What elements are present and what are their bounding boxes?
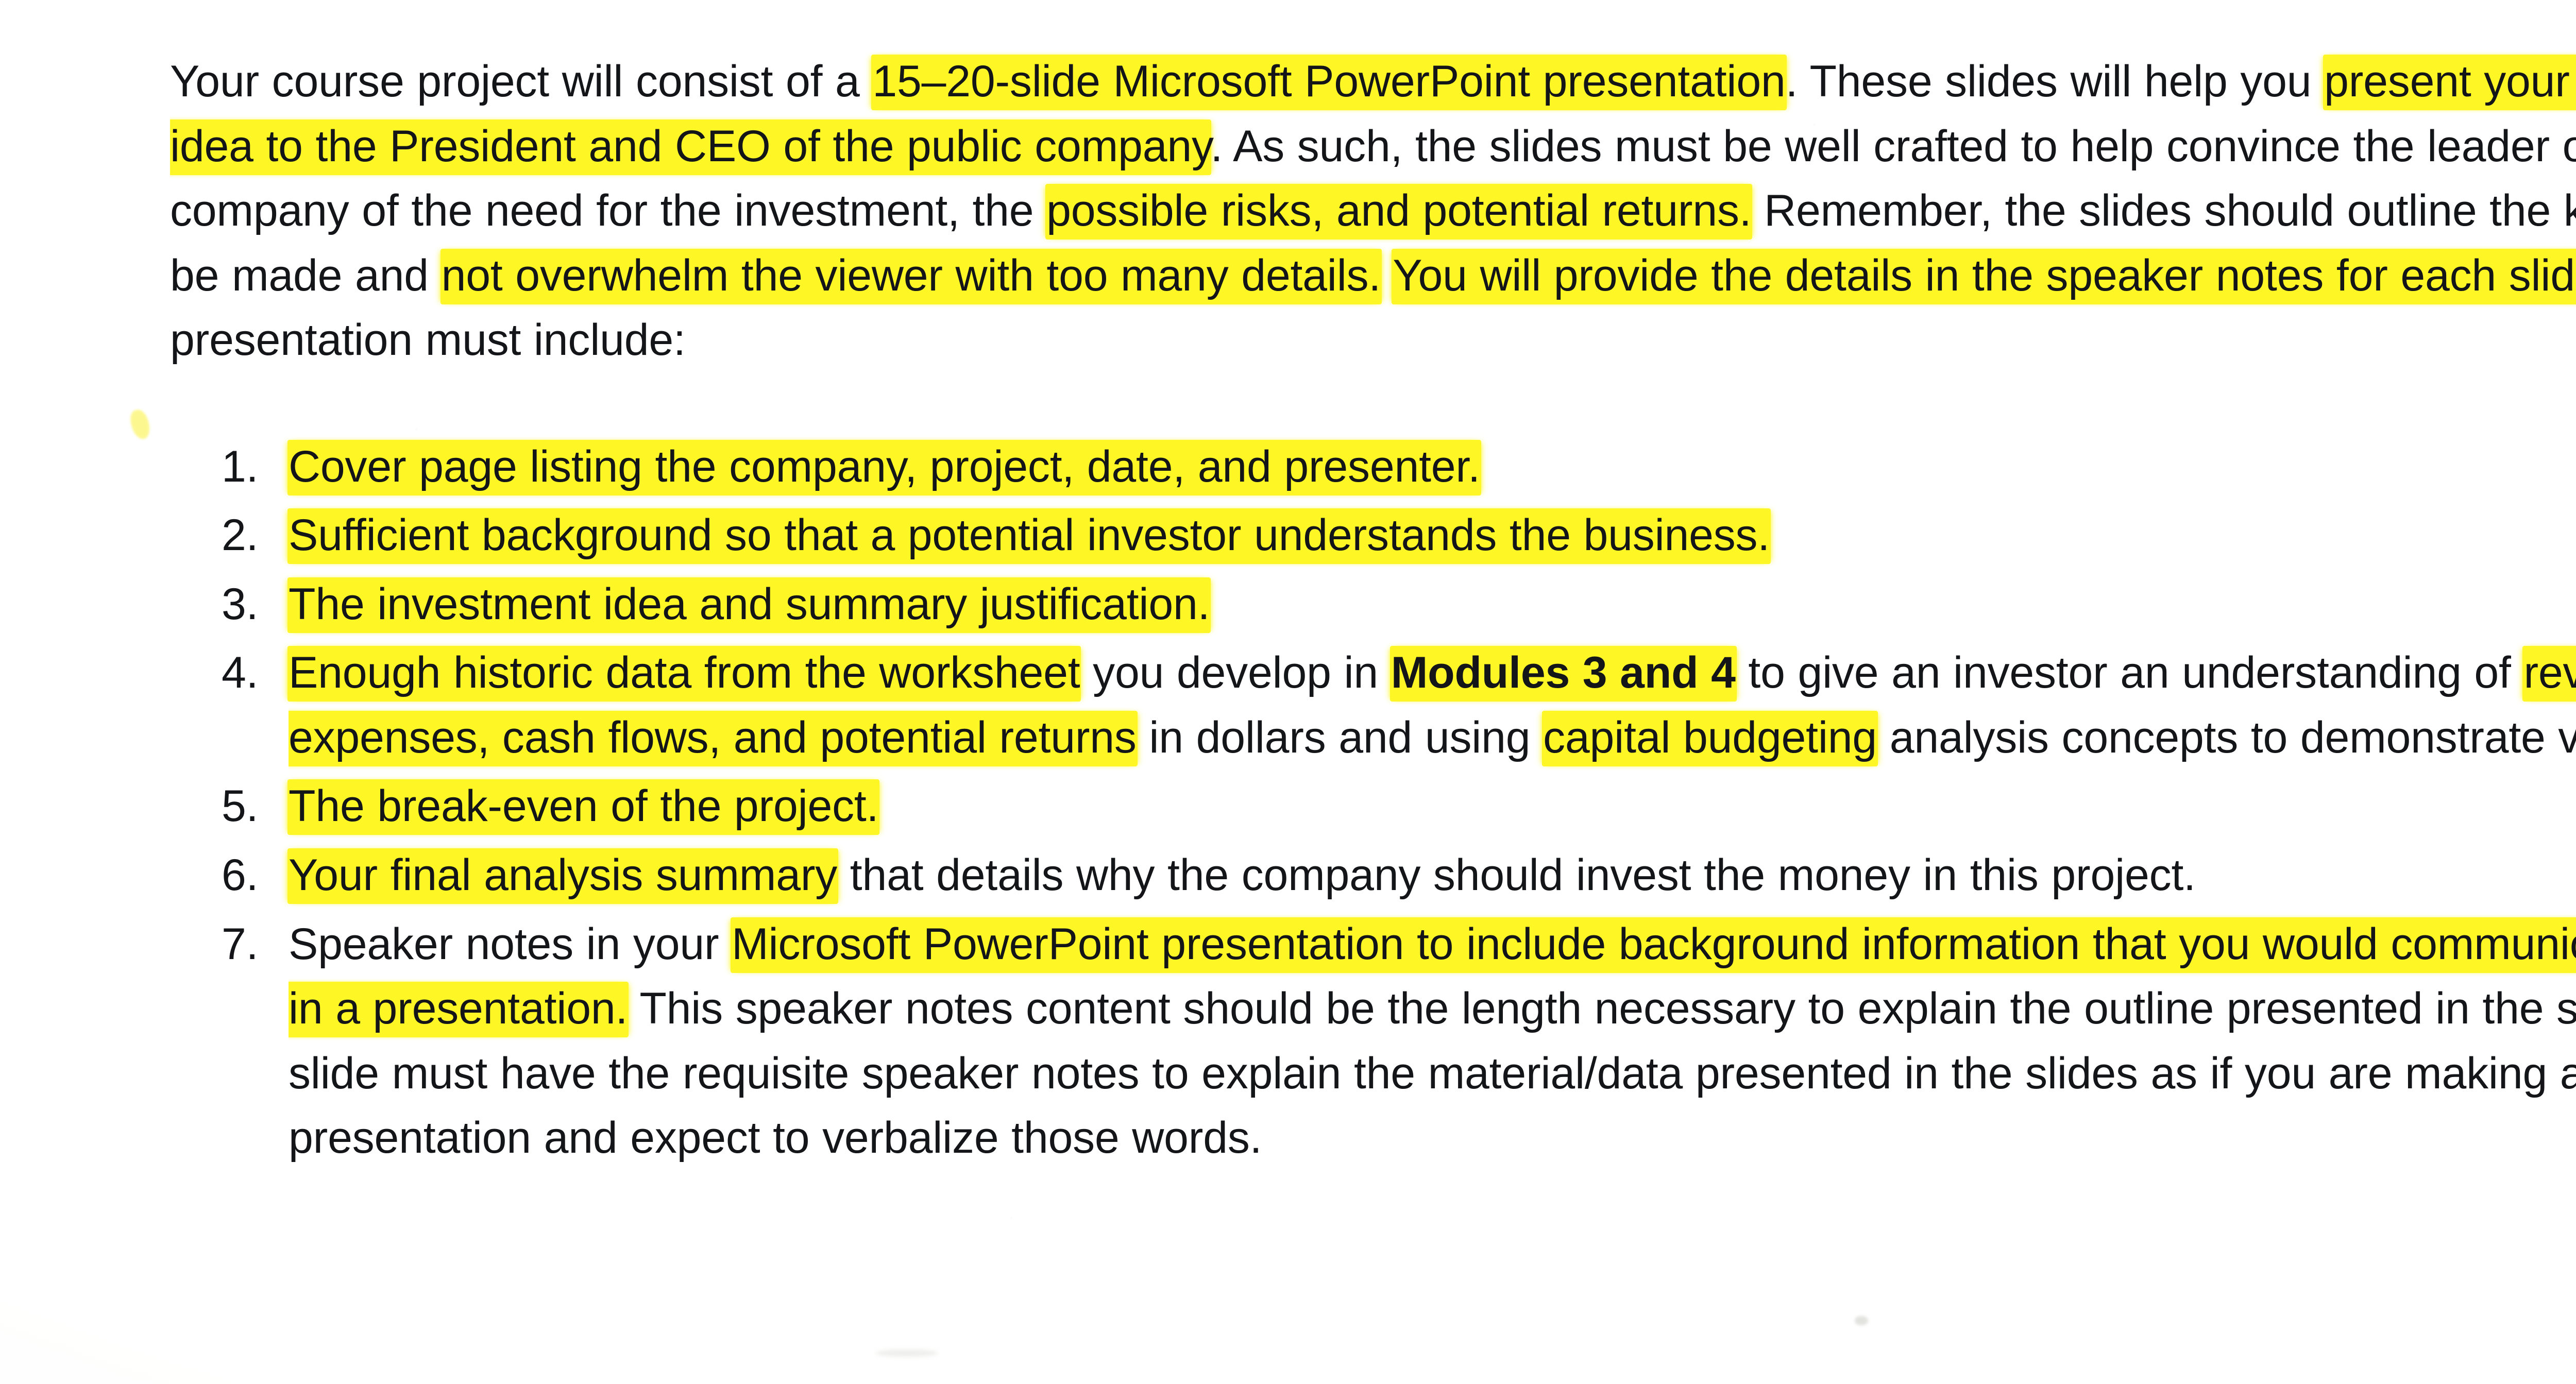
requirement-text-run: Speaker notes in your <box>289 919 732 969</box>
stray-highlighter-mark <box>128 408 151 441</box>
requirement-item: 7.Speaker notes in your Microsoft PowerP… <box>170 912 2576 1171</box>
requirement-number: 7. <box>222 912 278 977</box>
requirement-text: Sufficient background so that a potentia… <box>289 509 1770 563</box>
requirement-number: 4. <box>222 641 278 706</box>
requirement-text: The break-even of the project. <box>289 780 878 834</box>
requirement-number: 1. <box>222 435 278 500</box>
requirement-highlighted-run: Enough historic data from the worksheet <box>289 647 1080 700</box>
requirement-text-run: analysis concepts to demonstrate viabili… <box>1877 713 2576 762</box>
scan-speck <box>1855 1316 1868 1325</box>
intro-highlighted-run: possible risks, and potential returns. <box>1046 185 1751 238</box>
requirement-text-run: you develop in <box>1080 648 1391 697</box>
requirement-text-run: that details why the company should inve… <box>837 850 2196 900</box>
intro-text-run: Your course project will consist of a <box>170 57 872 106</box>
scan-smudge <box>876 1349 938 1357</box>
requirement-highlighted-run: Sufficient background so that a potentia… <box>289 509 1770 563</box>
intro-text-run: . These slides will help you <box>1786 57 2324 106</box>
intro-highlighted-run: not overwhelm the viewer with too many d… <box>442 250 1381 303</box>
document-body: Your course project will consist of a 15… <box>170 49 2576 1175</box>
requirement-item: 4.Enough historic data from the workshee… <box>170 641 2576 770</box>
requirement-text: Cover page listing the company, project,… <box>289 441 1480 494</box>
requirements-list: 1.Cover page listing the company, projec… <box>170 435 2576 1171</box>
intro-highlighted-run: 15–20-slide Microsoft PowerPoint present… <box>872 56 1785 109</box>
requirement-item: 6.Your final analysis summary that detai… <box>170 843 2576 908</box>
requirement-number: 2. <box>222 503 278 568</box>
requirement-item: 3.The investment idea and summary justif… <box>170 572 2576 637</box>
requirement-highlighted-run: Cover page listing the company, project,… <box>289 441 1480 494</box>
requirement-text: Enough historic data from the worksheet … <box>289 647 2576 765</box>
requirement-text-run: in dollars and using <box>1137 713 1543 762</box>
requirement-number: 3. <box>222 572 278 637</box>
requirement-highlighted-run: Your final analysis summary <box>289 849 837 903</box>
requirement-item: 2.Sufficient background so that a potent… <box>170 503 2576 568</box>
requirements-block: 1.Cover page listing the company, projec… <box>170 435 2576 1171</box>
scanned-document-page: Your course project will consist of a 15… <box>0 0 2576 1384</box>
requirement-highlighted-run: Modules 3 and 4 <box>1391 647 1736 700</box>
intro-paragraph: Your course project will consist of a 15… <box>170 49 2576 373</box>
requirement-text: The investment idea and summary justific… <box>289 578 1210 632</box>
requirement-item: 1.Cover page listing the company, projec… <box>170 435 2576 500</box>
requirement-highlighted-run: The investment idea and summary justific… <box>289 578 1210 632</box>
intro-text-run <box>1381 251 1393 300</box>
requirement-highlighted-run: The break-even of the project. <box>289 780 878 834</box>
requirement-text-run: to give an investor an understanding of <box>1736 648 2524 697</box>
requirement-number: 5. <box>222 774 278 839</box>
requirement-text: Your final analysis summary that details… <box>289 849 2196 903</box>
intro-highlighted-run: You will provide the details in the spea… <box>1393 250 2576 303</box>
requirement-text-run: This speaker notes content should be the… <box>289 984 2576 1163</box>
requirement-item: 5.The break-even of the project. <box>170 774 2576 839</box>
requirement-highlighted-run: capital budgeting <box>1543 712 1877 765</box>
requirement-number: 6. <box>222 843 278 908</box>
requirement-text: Speaker notes in your Microsoft PowerPoi… <box>289 918 2576 1163</box>
